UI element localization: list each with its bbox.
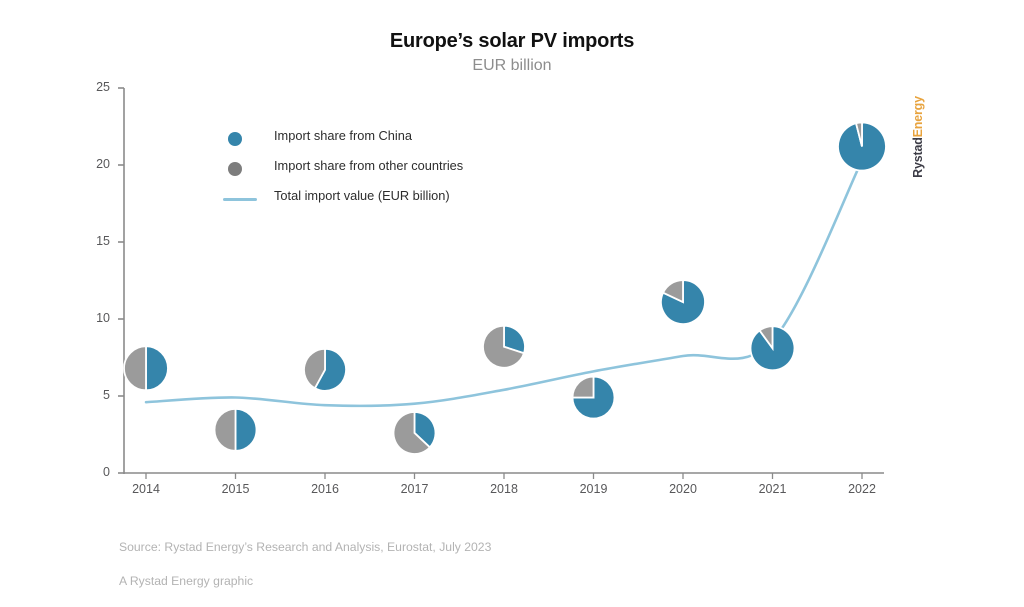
x-axis-label-2018: 2018	[469, 482, 539, 496]
pie-marker-2017[interactable]	[394, 412, 436, 454]
y-axis-label-25: 25	[76, 80, 110, 94]
pie-slice-other	[573, 377, 594, 398]
pie-marker-2022[interactable]	[838, 123, 886, 171]
x-axis-label-2015: 2015	[201, 482, 271, 496]
legend-dot-china-icon	[228, 132, 242, 146]
pie-slice-china	[146, 346, 168, 390]
pie-slice-other	[215, 409, 236, 451]
legend-label-total: Total import value (EUR billion)	[274, 188, 450, 203]
x-axis-label-2017: 2017	[380, 482, 450, 496]
pie-marker-2014[interactable]	[124, 346, 168, 390]
x-axis-label-2016: 2016	[290, 482, 360, 496]
x-axis-label-2014: 2014	[111, 482, 181, 496]
legend-line-total-icon	[223, 198, 257, 201]
brand-name-part2: Energy	[911, 96, 925, 137]
x-axis-label-2022: 2022	[827, 482, 897, 496]
source-line-1: Source: Rystad Energy’s Research and Ana…	[119, 539, 491, 556]
y-axis-label-5: 5	[76, 388, 110, 402]
brand-name-part1: Rystad	[911, 137, 925, 177]
pie-slice-other	[124, 346, 146, 390]
pie-slice-china	[236, 409, 257, 451]
source-note: Source: Rystad Energy’s Research and Ana…	[119, 522, 491, 607]
y-axis-label-0: 0	[76, 465, 110, 479]
pie-marker-2018[interactable]	[483, 326, 525, 368]
chart-canvas: Europe’s solar PV imports EUR billion Im…	[0, 0, 1024, 576]
legend-dot-other-icon	[228, 162, 242, 176]
pie-marker-2021[interactable]	[750, 326, 794, 370]
x-axis-label-2021: 2021	[738, 482, 808, 496]
legend-label-china: Import share from China	[274, 128, 412, 143]
pie-marker-2015[interactable]	[215, 409, 257, 451]
pie-marker-2019[interactable]	[573, 377, 615, 419]
pie-marker-2020[interactable]	[661, 280, 705, 324]
y-axis-label-15: 15	[76, 234, 110, 248]
pie-marker-2016[interactable]	[304, 349, 346, 391]
legend-label-other: Import share from other countries	[274, 158, 463, 173]
x-axis-label-2020: 2020	[648, 482, 718, 496]
rystad-energy-logo: RystadEnergy	[905, 88, 931, 198]
y-axis-label-20: 20	[76, 157, 110, 171]
y-axis-label-10: 10	[76, 311, 110, 325]
x-axis-label-2019: 2019	[559, 482, 629, 496]
